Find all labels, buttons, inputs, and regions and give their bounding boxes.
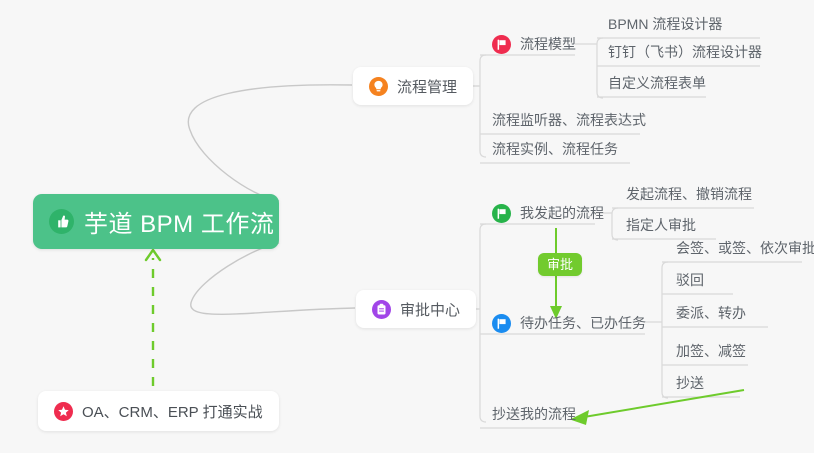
- leaf-start-cancel-process-label: 发起流程、撤销流程: [626, 184, 752, 204]
- node-my-started-processes[interactable]: 我发起的流程: [492, 202, 604, 224]
- lightbulb-icon: [369, 77, 388, 96]
- link-root-to-flow-management: [188, 85, 352, 201]
- leaf-delegate-transfer[interactable]: 委派、转办: [670, 305, 752, 327]
- branch-node-flow-management[interactable]: 流程管理: [353, 67, 473, 105]
- node-flow-model[interactable]: 流程模型: [492, 33, 576, 55]
- leaf-bpmn-designer-label: BPMN 流程设计器: [608, 14, 722, 34]
- bracket-todo-done: [662, 262, 668, 398]
- leaf-dingtalk-designer[interactable]: 钉钉（飞书）流程设计器: [602, 44, 768, 66]
- mindmap-canvas: 芋道 BPM 工作流 流程管理 流程模型 BPMN 流程设计器 钉钉（飞书）流程…: [0, 0, 814, 453]
- approval-flow-tag: 审批: [538, 253, 582, 276]
- bracket-approval-center: [480, 224, 486, 422]
- arrow-integration-head: [146, 250, 160, 260]
- leaf-custom-form-label: 自定义流程表单: [608, 73, 706, 93]
- leaf-assignee-approval-label: 指定人审批: [626, 215, 696, 235]
- node-todo-done-tasks[interactable]: 待办任务、已办任务: [492, 312, 646, 334]
- leaf-countersign-label: 会签、或签、依次审批: [676, 238, 814, 258]
- bracket-my-started: [612, 208, 618, 240]
- flag-icon: [492, 35, 511, 54]
- leaf-cc[interactable]: 抄送: [670, 375, 710, 397]
- leaf-reject-label: 驳回: [676, 270, 704, 290]
- flag-icon: [492, 204, 511, 223]
- integration-note-card[interactable]: OA、CRM、ERP 打通实战: [38, 391, 279, 431]
- leaf-bpmn-designer[interactable]: BPMN 流程设计器: [602, 16, 728, 38]
- leaf-add-remove-sign[interactable]: 加签、减签: [670, 343, 752, 365]
- leaf-cc-to-me-processes[interactable]: 抄送我的流程: [486, 406, 582, 428]
- leaf-custom-form[interactable]: 自定义流程表单: [602, 75, 712, 97]
- leaf-dingtalk-designer-label: 钉钉（飞书）流程设计器: [608, 42, 762, 62]
- node-todo-done-tasks-label: 待办任务、已办任务: [520, 313, 646, 333]
- leaf-assignee-approval[interactable]: 指定人审批: [620, 217, 702, 239]
- leaf-start-cancel-process[interactable]: 发起流程、撤销流程: [620, 186, 758, 208]
- arrow-cc: [578, 390, 744, 418]
- branch-node-flow-management-label: 流程管理: [397, 76, 457, 97]
- leaf-listener-expression[interactable]: 流程监听器、流程表达式: [486, 112, 652, 134]
- leaf-listener-expression-label: 流程监听器、流程表达式: [492, 110, 646, 130]
- leaf-cc-label: 抄送: [676, 373, 704, 393]
- root-node[interactable]: 芋道 BPM 工作流: [33, 194, 279, 249]
- leaf-delegate-transfer-label: 委派、转办: [676, 303, 746, 323]
- leaf-instance-task-label: 流程实例、流程任务: [492, 139, 618, 159]
- link-root-to-approval-center: [191, 243, 355, 314]
- branch-node-approval-center-label: 审批中心: [400, 299, 460, 320]
- leaf-reject[interactable]: 驳回: [670, 272, 710, 294]
- node-flow-model-label: 流程模型: [520, 34, 576, 54]
- leaf-countersign[interactable]: 会签、或签、依次审批: [670, 240, 814, 262]
- flag-icon: [492, 314, 511, 333]
- leaf-cc-to-me-processes-label: 抄送我的流程: [492, 404, 576, 424]
- star-icon: [54, 402, 73, 421]
- integration-note-label: OA、CRM、ERP 打通实战: [82, 401, 263, 422]
- node-my-started-processes-label: 我发起的流程: [520, 203, 604, 223]
- clipboard-icon: [372, 300, 391, 319]
- branch-node-approval-center[interactable]: 审批中心: [356, 290, 476, 328]
- root-node-label: 芋道 BPM 工作流: [84, 204, 274, 239]
- leaf-add-remove-sign-label: 加签、减签: [676, 341, 746, 361]
- approval-flow-tag-label: 审批: [547, 257, 573, 272]
- leaf-instance-task[interactable]: 流程实例、流程任务: [486, 141, 624, 163]
- thumbs-up-icon: [49, 209, 74, 234]
